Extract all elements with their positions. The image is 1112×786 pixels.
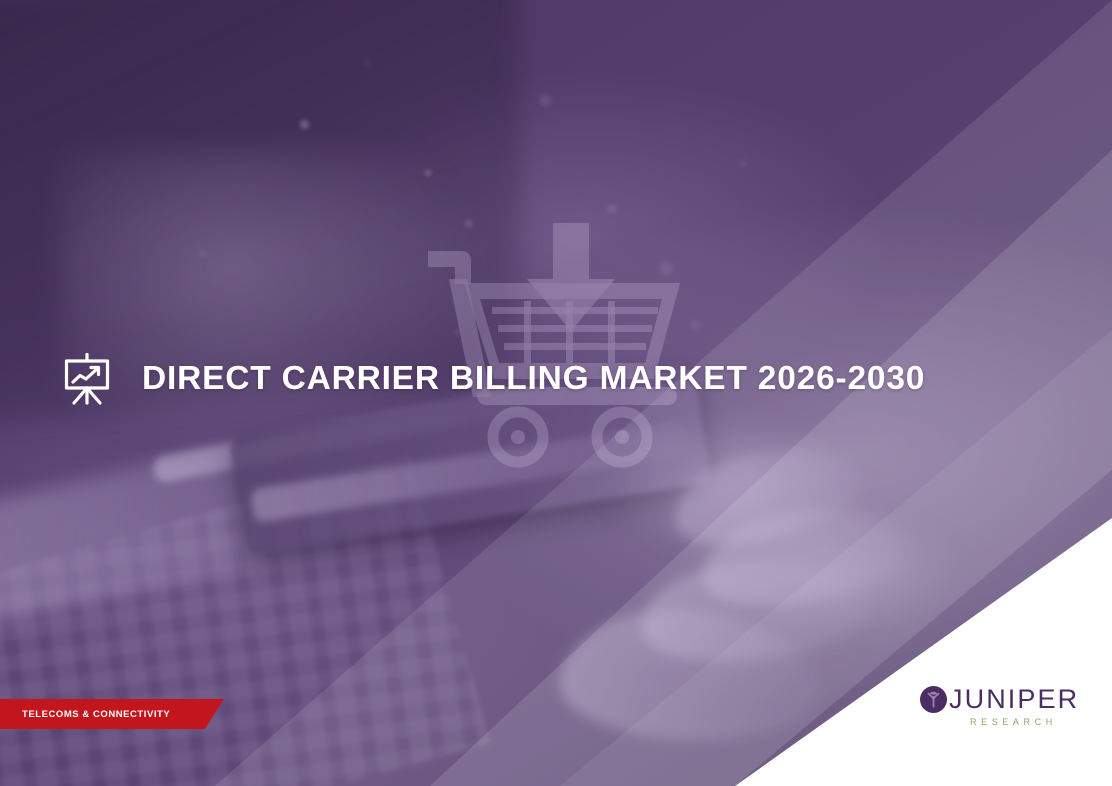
- title-block: DIRECT CARRIER BILLING MARKET 2026-2030: [60, 352, 925, 406]
- juniper-sprig-icon: [920, 686, 947, 713]
- report-cover-page: DIRECT CARRIER BILLING MARKET 2026-2030 …: [0, 0, 1112, 786]
- bokeh-dot: [455, 330, 460, 335]
- category-label: TELECOMS & CONNECTIVITY: [0, 709, 170, 720]
- logo-wordmark: JUNIPER: [949, 686, 1079, 713]
- page-title: DIRECT CARRIER BILLING MARKET 2026-2030: [142, 360, 925, 398]
- bokeh-dot: [300, 120, 309, 129]
- bokeh-dot: [365, 60, 370, 65]
- logo-subtitle: RESEARCH: [970, 717, 1057, 727]
- bokeh-dot: [740, 160, 747, 167]
- bokeh-dot: [660, 262, 673, 275]
- category-ribbon: TELECOMS & CONNECTIVITY: [0, 699, 224, 729]
- bokeh-dot: [425, 170, 431, 176]
- logo-row: JUNIPER: [920, 686, 1079, 713]
- bokeh-dot: [690, 320, 700, 330]
- bokeh-dot: [540, 95, 551, 106]
- presentation-chart-icon: [60, 352, 114, 406]
- bokeh-dot: [620, 430, 626, 436]
- bokeh-dot: [608, 205, 616, 213]
- bokeh-dot: [465, 220, 472, 227]
- juniper-research-logo: JUNIPER RESEARCH: [920, 686, 1079, 727]
- bokeh-dot: [200, 250, 206, 256]
